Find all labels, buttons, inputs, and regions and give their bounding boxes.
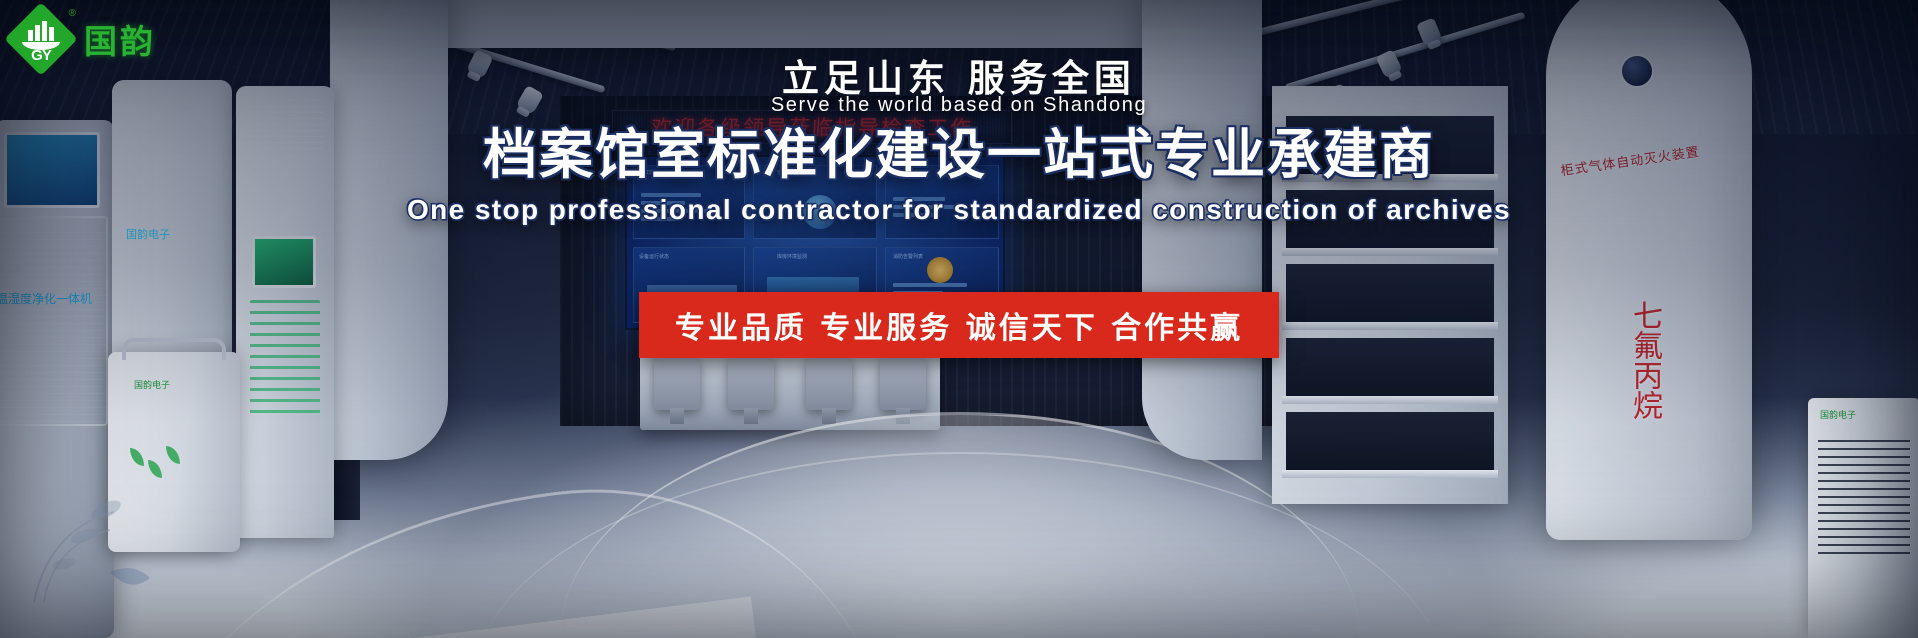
ac-display-screen (252, 236, 316, 288)
tagline-english: Serve the world based on Shandong (0, 94, 1918, 117)
arch-header (330, 0, 1262, 48)
slogan-bar-wrapper: 专业品质 专业服务 诚信天下 合作共赢 (0, 292, 1918, 358)
office-chair (654, 352, 700, 410)
dehumidifier-brand: 国韵电子 (134, 378, 170, 391)
office-chair (806, 352, 852, 410)
logo-company-name: 国韵 (84, 15, 156, 63)
floor-decal-artwork (14, 452, 164, 612)
hero-headline: 档案馆室标准化建设一站式专业承建商 (0, 124, 1918, 186)
slogan-bar[interactable]: 专业品质 专业服务 诚信天下 合作共赢 (639, 292, 1279, 358)
right-equipment-brand: 国韵电子 (1820, 408, 1856, 421)
hero-banner: 欢迎各级领导莅临指导检查工作 档案馆综合管理平台 安全监控总览 温湿度监测数据 … (0, 0, 1918, 638)
office-chair (880, 352, 926, 410)
right-small-equipment: 国韵电子 (1808, 398, 1918, 638)
gy-building-diamond-logo-icon: ® GY (8, 6, 74, 72)
left-equipment-brand: 国韵电子 (126, 226, 170, 242)
hero-subheadline: One stop professional contractor for sta… (0, 194, 1918, 226)
office-chair (728, 352, 774, 410)
company-logo[interactable]: ® GY 国韵 (8, 6, 156, 72)
logo-initials: GY (31, 50, 51, 61)
